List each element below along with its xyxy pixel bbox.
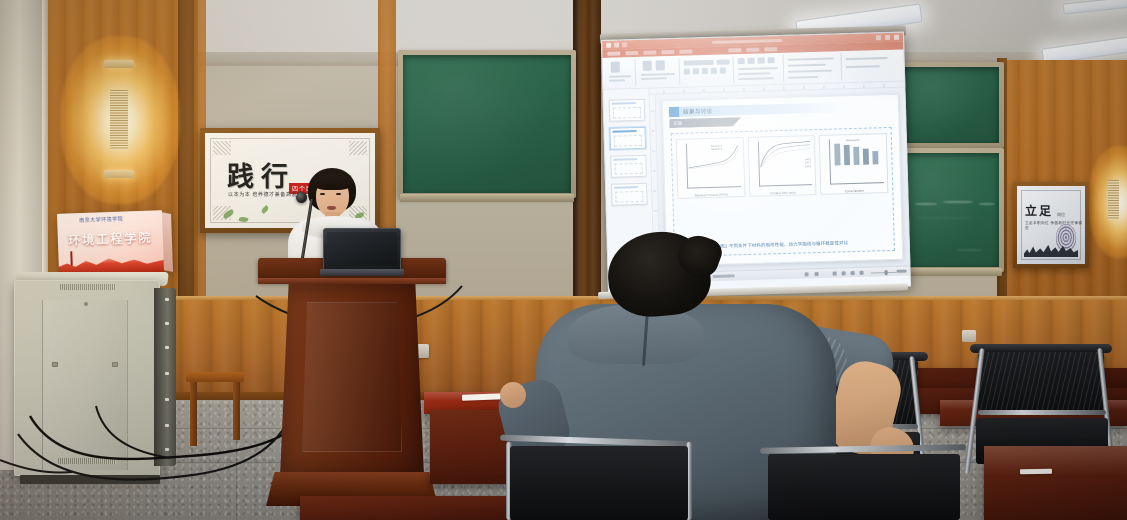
chart-figure-b: pH 3pH 7pH 9 Contact Time (min) <box>747 135 816 197</box>
right-desk-front <box>984 446 1127 520</box>
document-title-text <box>712 38 782 43</box>
poster-corner-ornament <box>349 141 367 155</box>
window-close-icon[interactable] <box>894 35 899 40</box>
chart-c-bars <box>830 138 883 166</box>
slide-thumbnail[interactable] <box>609 99 646 122</box>
paper-sheet-right-desk <box>1020 469 1052 475</box>
cabinet-vent-top <box>60 284 116 290</box>
chart-a-xlabel: Relative Pressure (P/P0) <box>678 192 744 198</box>
tent-flag-icon <box>70 251 72 265</box>
window-maximize-icon[interactable] <box>885 35 890 40</box>
bottom-desk-left <box>300 496 530 520</box>
podium-front-panel <box>302 302 402 452</box>
tab-help[interactable] <box>764 47 777 51</box>
university-logo: 南京大学环境学院 <box>79 216 123 225</box>
ribbon-group-clipboard[interactable] <box>606 59 637 87</box>
stool-leg <box>233 382 240 440</box>
thumbprint-icon <box>1056 224 1076 251</box>
chair-backrest <box>978 352 1104 410</box>
slide-subtag-label: 实验 <box>673 117 741 128</box>
tab-view[interactable] <box>746 48 759 52</box>
table-tent-sign: 南京大学环境学院 环境工程学院 <box>57 210 164 276</box>
chart-b-axes <box>758 140 813 186</box>
chart-a-legend: Sample ASample B <box>711 145 722 152</box>
save-icon[interactable] <box>606 43 611 48</box>
certificate-inner: 立足 岗位 立足本职岗位 争做新时代先锋模范 <box>1017 186 1085 264</box>
tab-insert[interactable] <box>643 50 656 54</box>
sconce-plate <box>104 170 134 178</box>
presenter-mouth <box>327 206 336 210</box>
podium-top-edge <box>258 278 446 284</box>
sconce-grill <box>1108 180 1119 220</box>
ribbon-group-font[interactable] <box>682 56 735 84</box>
sconce-grill <box>110 90 128 150</box>
cabinet-latch[interactable] <box>52 362 58 367</box>
chart-figure-c: Removal % Cycle Number <box>819 133 888 195</box>
chart-b-xlabel: Contact Time (min) <box>750 190 816 196</box>
cabinet-latch[interactable] <box>112 362 118 367</box>
tab-transitions[interactable] <box>679 49 692 53</box>
wall-sconce-left <box>66 44 174 196</box>
laptop-lid <box>323 228 401 270</box>
blackboard-right-upper-surface <box>905 67 999 143</box>
chart-figure-a: Sample ASample B Relative Pressure (P/P0… <box>676 137 745 199</box>
classroom-photo: 践行 四个面向 以本为本 培养德才兼备高素质人才 立足 岗位 立足本职岗位 争做… <box>0 0 1127 520</box>
certificate-title: 立足 <box>1025 202 1053 219</box>
wooden-stool[interactable] <box>186 372 244 446</box>
ribbon-group-paragraph[interactable] <box>736 55 785 83</box>
laptop-on-podium[interactable] <box>320 228 404 276</box>
tab-review[interactable] <box>728 48 741 52</box>
chair-seat <box>510 446 688 520</box>
undo-icon[interactable] <box>614 42 619 47</box>
slide-subtag: 实验 <box>669 117 741 128</box>
wall-power-socket[interactable] <box>962 330 976 342</box>
window-minimize-icon[interactable] <box>876 35 881 40</box>
poster-corner-ornament <box>213 141 231 155</box>
chart-c-xlabel: Cycle Number <box>822 188 888 194</box>
slide-thumbnail[interactable] <box>610 155 647 178</box>
laptop-base <box>320 269 404 276</box>
slide-thumbnail-selected[interactable] <box>609 127 646 150</box>
tent-title: 环境工程学院 <box>58 228 164 249</box>
microphone-head-icon <box>296 192 307 203</box>
presenter-bangs <box>313 173 352 190</box>
chair-seat <box>768 454 960 520</box>
blackboard-left-surface <box>403 55 571 193</box>
tab-design[interactable] <box>661 50 674 54</box>
chart-b-legend: pH 3pH 7pH 9 <box>805 158 811 168</box>
ribbon-group-slides[interactable] <box>638 58 681 86</box>
figure-row: Sample ASample B Relative Pressure (P/P0… <box>676 133 889 199</box>
tab-file[interactable] <box>607 51 620 55</box>
chair-frame-armrest <box>760 444 966 454</box>
chair-right-foreground[interactable] <box>760 440 970 520</box>
student-left-hand <box>500 382 526 408</box>
redo-icon[interactable] <box>622 42 627 47</box>
slide-thumbnail[interactable] <box>611 183 648 206</box>
wall-sconce-right <box>1084 146 1127 256</box>
podium-lectern <box>258 258 446 506</box>
framed-certificate: 立足 岗位 立足本职岗位 争做新时代先锋模范 <box>1013 182 1089 268</box>
certificate-subtitle: 立足本职岗位 争做新时代先锋模范 <box>1025 221 1085 231</box>
chair-foreground-left[interactable] <box>500 428 700 520</box>
blackboard-left <box>398 50 576 198</box>
stool-seat <box>186 372 244 382</box>
blackboard-left-ledge <box>400 194 574 202</box>
ribbon-group-editing[interactable] <box>843 52 894 80</box>
chart-c-axes <box>829 138 884 184</box>
laptop-screen[interactable] <box>327 232 397 265</box>
ribbon-group-drawing[interactable] <box>785 53 842 82</box>
slide-title-marker <box>669 107 679 117</box>
chair-frame-crossbar <box>978 410 1106 415</box>
sconce-plate <box>104 60 134 68</box>
chart-c-legend: Removal % <box>846 139 859 143</box>
tab-home[interactable] <box>625 51 638 55</box>
certificate-tag: 岗位 <box>1057 212 1065 218</box>
cabinet-keyhole[interactable] <box>84 302 88 306</box>
tent-front-face: 南京大学环境学院 环境工程学院 <box>57 210 164 276</box>
stool-leg <box>190 382 197 446</box>
chart-b-curve <box>759 140 812 168</box>
blackboard-right-upper <box>900 62 1004 148</box>
slide-title: 结果与讨论 <box>683 107 713 116</box>
